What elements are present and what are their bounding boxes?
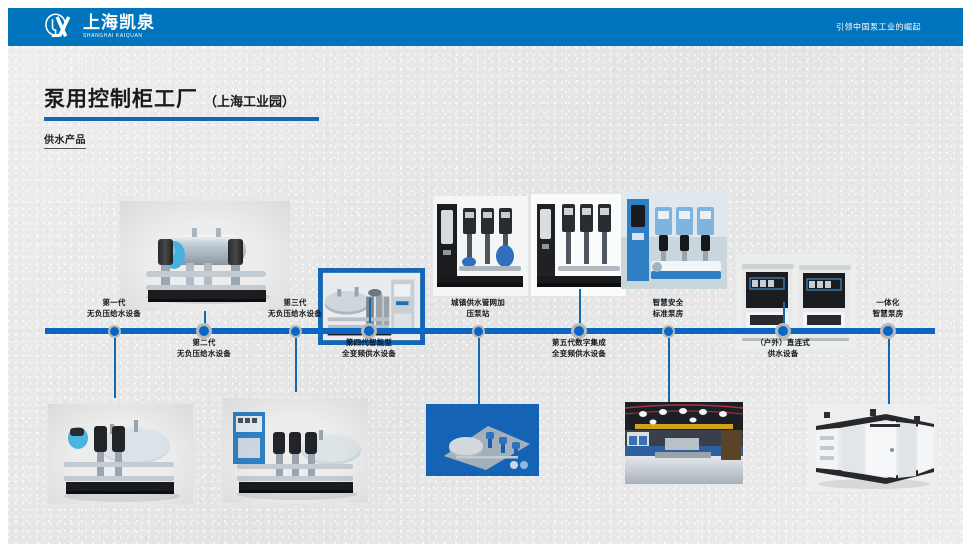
timeline-node-gen1[interactable] xyxy=(108,325,121,338)
brand-name-en: SHANGHAI KAIQUAN xyxy=(83,34,155,39)
photo-fifth-generation-unit-a[interactable] xyxy=(433,196,528,296)
timeline-label-booster: 城镇供水管网加 压泵站 xyxy=(424,298,532,320)
slide-canvas: 泵用控制柜工厂 （上海工业园） 供水产品 xyxy=(8,46,963,544)
brand-name-cn: 上海凯泉 xyxy=(83,15,155,32)
timeline-node-gen5[interactable] xyxy=(571,323,587,339)
connector-gen1 xyxy=(114,334,116,398)
page-title-block: 泵用控制柜工厂 （上海工业园） xyxy=(44,89,319,121)
photo-fifth-generation-unit-b[interactable] xyxy=(531,194,626,296)
photo-smart-pump-room-interior[interactable] xyxy=(625,402,743,484)
connector-smartroom xyxy=(668,334,670,402)
timeline-label-gen3: 第三代 无负压给水设备 xyxy=(245,298,345,320)
timeline-label-integrated: 一体化 智慧泵房 xyxy=(842,298,934,320)
timeline-node-booster[interactable] xyxy=(472,325,485,338)
page-title-suffix: （上海工业园） xyxy=(204,96,295,110)
connector-booster xyxy=(478,334,480,404)
timeline-node-gen2[interactable] xyxy=(196,323,212,339)
title-underline xyxy=(44,117,319,121)
photo-second-generation-unit[interactable] xyxy=(48,404,193,504)
timeline-label-gen1: 第一代 无负压给水设备 xyxy=(64,298,164,320)
timeline-node-outdoor[interactable] xyxy=(775,323,791,339)
photo-first-generation-unit[interactable] xyxy=(120,201,290,311)
photo-outdoor-cabinet-pair[interactable] xyxy=(736,254,856,349)
timeline-node-smartroom[interactable] xyxy=(662,325,675,338)
brand-text: 上海凯泉 SHANGHAI KAIQUAN xyxy=(83,15,155,39)
timeline-label-gen2: 第二代 无负压给水设备 xyxy=(154,338,254,360)
timeline-node-gen4[interactable] xyxy=(361,323,377,339)
brand-logo[interactable]: 上海凯泉 SHANGHAI KAIQUAN xyxy=(44,13,155,41)
timeline-label-gen5: 第五代数字集成 全变频供水设备 xyxy=(524,338,634,360)
timeline-node-gen3[interactable] xyxy=(289,325,302,338)
photo-booster-station-render[interactable] xyxy=(426,404,539,476)
connector-gen3 xyxy=(295,334,297,392)
connector-integrated xyxy=(888,334,890,404)
header-tagline: 引领中国泵工业的崛起 xyxy=(836,22,921,33)
header-bar: 上海凯泉 SHANGHAI KAIQUAN 引领中国泵工业的崛起 xyxy=(8,8,963,46)
timeline-bar xyxy=(45,328,935,334)
slide-root: 上海凯泉 SHANGHAI KAIQUAN 引领中国泵工业的崛起 泵用控制柜工厂… xyxy=(0,0,971,552)
timeline-node-integrated[interactable] xyxy=(880,323,896,339)
photo-fifth-generation-unit-c[interactable] xyxy=(621,191,727,289)
page-title: 泵用控制柜工厂 xyxy=(44,89,198,110)
photo-integrated-smart-pump-room[interactable] xyxy=(808,404,938,492)
kaiquan-logo-icon xyxy=(44,13,78,41)
section-label: 供水产品 xyxy=(44,131,86,149)
photo-fourth-generation-unit[interactable] xyxy=(223,398,368,503)
timeline-label-smartroom: 智慧安全 标准泵房 xyxy=(620,298,716,320)
timeline-label-outdoor: （户外）直连式 供水设备 xyxy=(726,338,840,360)
timeline-label-gen4: 第四代智能型 全变频供水设备 xyxy=(314,338,424,360)
